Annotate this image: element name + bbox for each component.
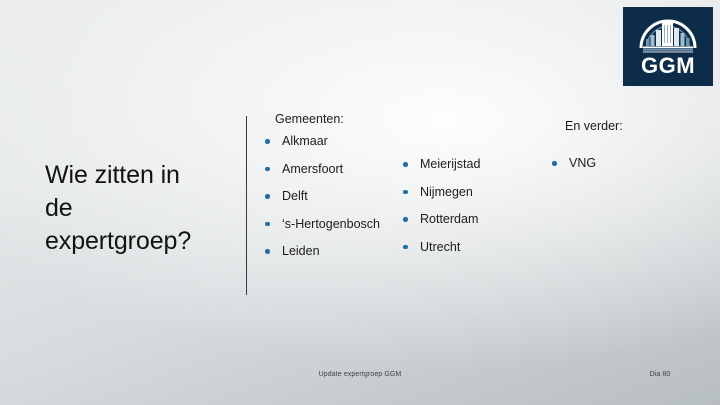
bullet-list-en-verder: VNG bbox=[549, 157, 623, 170]
column-heading-gemeenten: Gemeenten: bbox=[262, 112, 380, 126]
slide-canvas: GGM Wie zitten in de expertgroep? Gemeen… bbox=[0, 0, 720, 405]
list-item: Leiden bbox=[262, 245, 380, 258]
arch-skyline-icon bbox=[637, 14, 699, 54]
list-item: ‘s-Hertogenbosch bbox=[262, 218, 380, 231]
list-item: Nijmegen bbox=[400, 186, 480, 199]
ggm-logo: GGM bbox=[623, 7, 713, 86]
ggm-logo-text: GGM bbox=[641, 55, 695, 77]
slide-title-line-3: expertgroep? bbox=[45, 227, 191, 255]
list-item: Alkmaar bbox=[262, 135, 380, 148]
slide-title-line-2: de bbox=[45, 194, 73, 222]
list-item: Amersfoort bbox=[262, 163, 380, 176]
bullet-list-gemeenten: Alkmaar Amersfoort Delft ‘s-Hertogenbosc… bbox=[262, 135, 380, 258]
list-item: Meierijstad bbox=[400, 158, 480, 171]
column-gemeenten: Gemeenten: Alkmaar Amersfoort Delft ‘s-H… bbox=[262, 112, 380, 258]
vertical-divider bbox=[246, 116, 247, 295]
slide-title: Wie zitten in de expertgroep? bbox=[45, 159, 230, 259]
column-gemeenten-continued: Meierijstad Nijmegen Rotterdam Utrecht bbox=[400, 158, 480, 253]
list-item: Utrecht bbox=[400, 241, 480, 254]
list-item: VNG bbox=[549, 157, 623, 170]
column-en-verder: En verder: VNG bbox=[549, 119, 623, 170]
bullet-list-gemeenten-continued: Meierijstad Nijmegen Rotterdam Utrecht bbox=[400, 158, 480, 253]
column-heading-en-verder: En verder: bbox=[549, 119, 623, 133]
list-item: Delft bbox=[262, 190, 380, 203]
footer-text: Update expertgroep GGM bbox=[0, 371, 720, 378]
slide-number: Dia 80 bbox=[620, 371, 700, 378]
list-item: Rotterdam bbox=[400, 213, 480, 226]
slide-title-line-1: Wie zitten in bbox=[45, 161, 180, 189]
